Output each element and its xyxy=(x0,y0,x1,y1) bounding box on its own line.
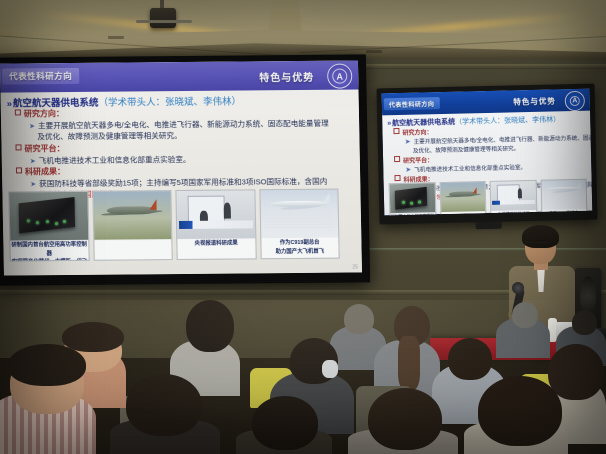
projector-icon xyxy=(150,8,176,28)
thumbnail-image-chassis xyxy=(390,183,435,214)
side-slide-surface: 代表性科研方向 特色与优势 A »航空航天器供电系统（学术带头人：张晓斌、李伟林… xyxy=(382,89,593,216)
side-section-item-1-0-text: 飞机电推进技术工业和信息化部重点实验室。 xyxy=(414,165,526,174)
thumbnail-caption: 研制国内首台航空用高功率控制器 实现国产化替代，支撑新一代飞机配电系统国产化 xyxy=(10,240,88,261)
slide-title-line: »航空航天器供电系统（学术带头人：张晓斌、李伟林） xyxy=(7,93,242,109)
thumbnail-caption-line1: 作为C919副总台 xyxy=(542,210,587,216)
side-slide-thumbnail-row: 研制国内首台航空用高功率控制器 xyxy=(389,179,588,216)
side-monitor-screen: 代表性科研方向 特色与优势 A »航空航天器供电系统（学术带头人：张晓斌、李伟林… xyxy=(382,89,593,216)
thumbnail-image-transport-aircraft xyxy=(440,182,485,213)
monitor-stand xyxy=(476,222,502,230)
side-title-main: 航空航天器供电系统 xyxy=(392,119,455,127)
ceiling-vent-1 xyxy=(108,36,124,39)
side-section-heading-1: 研究平台： xyxy=(394,155,433,165)
side-university-emblem-icon: A xyxy=(565,91,585,111)
square-bullet-icon xyxy=(394,175,400,181)
section-heading-2: 科研成果： xyxy=(16,166,65,177)
thumbnail-item xyxy=(92,190,173,261)
thumbnail-caption-line2: 实现国产化替代，支撑新一代飞机配电系统国产化 xyxy=(11,258,89,262)
arrow-bullet-icon: ➤ xyxy=(30,180,36,188)
slide-title-bullet-icon: » xyxy=(7,98,13,109)
glasses-icon xyxy=(526,242,550,249)
slide-page-number: 25 xyxy=(352,264,358,270)
section-heading-0: 研究方向： xyxy=(15,108,64,119)
side-lcd-monitor: 代表性科研方向 特色与优势 A »航空航天器供电系统（学术带头人：张晓斌、李伟林… xyxy=(376,84,597,225)
section-heading-2-text: 科研成果： xyxy=(25,167,65,176)
thumbnail-item xyxy=(439,181,486,215)
square-bullet-icon xyxy=(15,109,21,115)
slide-title-paren: （学术带头人：张晓斌、李伟林） xyxy=(98,96,241,108)
thumbnail-item: 研制国内首台航空用高功率控制器 xyxy=(389,182,436,215)
thumbnail-image-tv-interview xyxy=(176,190,254,240)
thumbnail-image-c919 xyxy=(541,180,586,211)
thumbnail-caption: 央视报道科研成果 xyxy=(491,210,536,215)
tv-person-a xyxy=(517,188,522,198)
arrow-bullet-icon: ➤ xyxy=(30,157,36,165)
audience-lighting xyxy=(0,300,606,454)
aircraft-fuselage xyxy=(107,206,157,214)
projector-bracket xyxy=(136,20,192,23)
side-section-item-0-1-text: 及优化、故障预测及健康管理等相关研究。 xyxy=(413,146,519,154)
slide-header-title: 特色与优势 xyxy=(259,69,314,84)
side-section-item-0-1: 及优化、故障预测及健康管理等相关研究。 xyxy=(413,144,519,154)
thumbnail-item: 央视报道科研成果 xyxy=(490,180,537,215)
section-item-0-1-text: 及优化、故障预测及健康管理等相关研究。 xyxy=(37,131,181,141)
thumbnail-image-c919 xyxy=(260,190,338,240)
side-section-heading-0: 研究方向： xyxy=(393,127,432,137)
thumbnail-caption: 作为C919副总台 助力国产大飞机首飞 xyxy=(261,238,339,259)
thumbnail-caption-line1 xyxy=(94,240,172,241)
side-section-heading-0-text: 研究方向： xyxy=(402,130,432,137)
emblem-letter: A xyxy=(336,71,343,81)
aircraft-fuselage xyxy=(448,191,477,196)
thumbnail-caption-line1: 央视报道科研成果 xyxy=(177,239,255,248)
thumbnail-caption-line1 xyxy=(441,212,485,213)
section-item-2-0-text: 获国防科技等省部级奖励15项；主持编写5项国家军用标准和3项ISO国际标准，含国… xyxy=(39,177,327,189)
side-emblem-letter: A xyxy=(572,97,577,104)
thumbnail-caption-line1: 央视报道科研成果 xyxy=(491,211,536,215)
square-bullet-icon xyxy=(394,156,400,162)
side-title-paren: （学术带头人：张晓斌、李伟林） xyxy=(455,116,560,125)
chassis-shape xyxy=(19,197,75,234)
thumbnail-item: 研制国内首台航空用高功率控制器 实现国产化替代，支撑新一代飞机配电系统国产化 xyxy=(8,191,89,262)
tv-lower-third xyxy=(492,200,535,206)
thumbnail-caption-line1: 研制国内首台航空用高功率控制器 xyxy=(10,241,88,259)
side-slide-section-tab: 代表性科研方向 xyxy=(384,97,440,110)
section-item-0-0-text: 主要开展航空航天器多电/全电化、电推进飞行器、新能源动力系统、固态配电能量管理 xyxy=(38,119,329,131)
side-slide-header-title: 特色与优势 xyxy=(513,95,556,107)
thumbnail-item: 作为C919副总台 xyxy=(540,179,587,216)
tv-person-a xyxy=(223,202,231,219)
presentation-photo-scene: 代表性科研方向 特色与优势 A »航空航天器供电系统（学术带头人：张晓斌、李伟林… xyxy=(0,0,606,454)
thumbnail-item: 作为C919副总台 助力国产大飞机首飞 xyxy=(259,189,340,260)
thumbnail-caption xyxy=(441,211,486,215)
slide-header-band: 代表性科研方向 特色与优势 A xyxy=(0,60,358,92)
slide-surface: 代表性科研方向 特色与优势 A »航空航天器供电系统（学术带头人：张晓斌、李伟林… xyxy=(0,60,362,275)
section-item-2-0: ➤获国防科技等省部级奖励15项；主持编写5项国家军用标准和3项ISO国际标准，含… xyxy=(30,176,327,190)
thumbnail-caption: 研制国内首台航空用高功率控制器 xyxy=(390,212,435,215)
section-item-0-1: 及优化、故障预测及健康管理等相关研究。 xyxy=(37,130,181,142)
audience xyxy=(0,300,606,454)
projected-slide: 代表性科研方向 特色与优势 A »航空航天器供电系统（学术带头人：张晓斌、李伟林… xyxy=(0,60,362,275)
slide-section-tab: 代表性科研方向 xyxy=(2,68,79,85)
thumbnail-item: 央视报道科研成果 xyxy=(175,189,256,260)
chassis-shape xyxy=(395,186,427,209)
arrow-bullet-icon: ➤ xyxy=(29,122,35,130)
section-heading-1-text: 研究平台： xyxy=(24,144,64,153)
section-heading-0-text: 研究方向： xyxy=(24,109,64,118)
section-item-1-0: ➤飞机电推进技术工业和信息化部重点实验室。 xyxy=(30,154,191,166)
microphone-head-icon xyxy=(512,282,524,294)
projection-screen: 代表性科研方向 特色与优势 A »航空航天器供电系统（学术带头人：张晓斌、李伟林… xyxy=(0,54,370,285)
tv-lower-third xyxy=(179,221,254,229)
arrow-bullet-icon: ➤ xyxy=(405,166,411,174)
c919-text-block xyxy=(265,215,334,230)
slide-thumbnail-row: 研制国内首台航空用高功率控制器 实现国产化替代，支撑新一代飞机配电系统国产化 xyxy=(8,189,339,262)
side-slide-header-band: 代表性科研方向 特色与优势 A xyxy=(382,89,590,116)
thumbnail-caption xyxy=(94,239,172,260)
thumbnail-caption: 作为C919副总台 xyxy=(542,209,587,216)
side-title-bullet-icon: » xyxy=(387,120,391,127)
side-section-item-1-0: ➤飞机电推进技术工业和信息化部重点实验室。 xyxy=(405,163,526,174)
university-emblem-icon: A xyxy=(327,64,352,89)
thumbnail-image-chassis xyxy=(9,192,87,242)
thumbnail-caption-line2: 助力国产大飞机首飞 xyxy=(261,247,339,256)
thumbnail-image-transport-aircraft xyxy=(93,191,171,241)
thumbnail-caption-line2 xyxy=(94,240,172,241)
side-section-heading-1-text: 研究平台： xyxy=(403,158,433,165)
thumbnail-image-tv-interview xyxy=(491,181,536,212)
square-bullet-icon xyxy=(16,167,22,173)
square-bullet-icon xyxy=(15,144,21,150)
thumbnail-caption-line1: 研制国内首台航空用高功率控制器 xyxy=(390,213,435,215)
section-heading-1: 研究平台： xyxy=(15,143,64,154)
side-slide-title-line: »航空航天器供电系统（学术带头人：张晓斌、李伟林） xyxy=(387,114,560,128)
arrow-bullet-icon: ➤ xyxy=(405,138,411,146)
section-item-1-0-text: 飞机电推进技术工业和信息化部重点实验室。 xyxy=(39,155,191,165)
thumbnail-caption: 央视报道科研成果 xyxy=(177,238,255,259)
square-bullet-icon xyxy=(393,128,399,134)
